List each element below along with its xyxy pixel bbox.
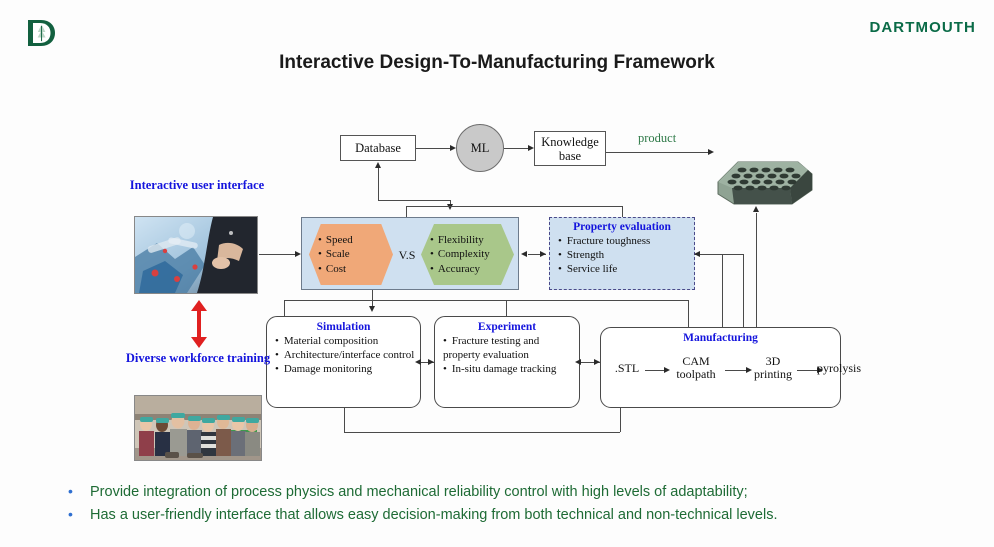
ml-node[interactable]: ML [456, 124, 504, 172]
manufacturing-step-stl: .STL [607, 362, 647, 375]
connector-sim-down [344, 408, 345, 432]
connector-feedback-to-db-v [378, 168, 379, 201]
simulation-title: Simulation [271, 321, 416, 333]
connector-cam-3d [725, 370, 747, 371]
manufacturing-step-cam: CAM toolpath [667, 355, 725, 380]
arrow-man-to-product [753, 206, 759, 212]
connector-lower-bus [284, 300, 688, 301]
arrow-ui-to-panel [295, 251, 301, 257]
arrow-panel-to-prop [540, 251, 546, 257]
database-node[interactable]: Database [340, 135, 416, 161]
design-tradeoff-panel[interactable]: Speed Scale Cost V.S Flexibility Complex… [301, 217, 519, 290]
arrow-feedback-to-db [375, 162, 381, 168]
property-evaluation-item: Fracture toughness [558, 234, 690, 248]
property-evaluation-item: Service life [558, 262, 690, 276]
connector-sim-to-stl-h [344, 432, 620, 433]
hexagon-constraints[interactable]: Speed Scale Cost [309, 224, 393, 285]
connector-db-to-ml [416, 148, 450, 149]
experiment-box[interactable]: Experiment Fracture testing and property… [434, 316, 580, 408]
bullet-marker-icon: • [68, 506, 90, 523]
connector-man-to-prop-v [722, 254, 723, 327]
experiment-item: Fracture testing and property evaluation [443, 334, 575, 362]
connector-bus-to-exp [506, 300, 507, 316]
connector-kb-to-product [606, 152, 710, 153]
manufacturing-step-3dprinting: 3D printing [747, 355, 799, 380]
property-evaluation-title: Property evaluation [554, 221, 690, 233]
robotic-arm-touchscreen-photo [134, 216, 258, 294]
hex-right-item: Flexibility [430, 233, 514, 247]
experiment-item: In-situ damage tracking [443, 362, 575, 376]
simulation-item: Damage monitoring [275, 362, 416, 376]
arrow-prop-to-panel [521, 251, 527, 257]
dartmouth-d-pine-logo-icon [24, 18, 58, 48]
arrow-panel-down [369, 306, 375, 312]
summary-bullet-item: • Has a user-friendly interface that all… [68, 506, 968, 524]
summary-bullet-text: Provide integration of process physics a… [90, 483, 748, 501]
summary-bullet-item: • Provide integration of process physics… [68, 483, 968, 501]
manufacturing-step-pyrolysis: pyrolysis [817, 362, 871, 375]
3d-lattice-block-icon [712, 148, 818, 210]
connector-ml-to-kb [504, 148, 528, 149]
property-evaluation-box[interactable]: Property evaluation Fracture toughness S… [549, 217, 695, 290]
connector-bus-down-right [622, 206, 623, 217]
connector-prop-right-v [743, 254, 744, 327]
simulation-box[interactable]: Simulation Material composition Architec… [266, 316, 421, 408]
connector-feedback-to-db-h [378, 200, 450, 201]
hex-left-item: Speed [318, 233, 393, 247]
red-double-arrow-icon [190, 300, 208, 348]
summary-bullets: • Provide integration of process physics… [68, 483, 968, 529]
interactive-ui-caption: Interactive user interface [124, 178, 270, 193]
hex-left-item: Cost [318, 262, 393, 276]
manufacturing-box[interactable]: Manufacturing .STL CAM toolpath 3D print… [600, 327, 841, 408]
hex-right-item: Complexity [430, 247, 514, 261]
hexagon-objectives[interactable]: Flexibility Complexity Accuracy [421, 224, 514, 285]
connector-bus-to-sim [284, 300, 285, 316]
connector-bus-to-man [688, 300, 689, 327]
slide-canvas: DARTMOUTH Interactive Design-To-Manufact… [0, 0, 994, 547]
arrow-man-to-exp [575, 359, 581, 365]
student-group-lab-photo [134, 395, 262, 461]
product-label: product [638, 131, 676, 146]
diverse-workforce-caption: Diverse workforce training [118, 351, 278, 366]
connector-bus-down-left [406, 206, 407, 217]
connector-stl-cam [645, 370, 665, 371]
summary-bullet-text: Has a user-friendly interface that allow… [90, 506, 777, 524]
bullet-marker-icon: • [68, 483, 90, 500]
connector-man-to-prop-h [700, 254, 722, 255]
knowledge-base-node[interactable]: Knowledge base [534, 131, 606, 166]
arrow-exp-to-sim [415, 359, 421, 365]
simulation-item: Material composition [275, 334, 416, 348]
brand-label: DARTMOUTH [869, 19, 976, 36]
simulation-item: Architecture/interface control [275, 348, 416, 362]
hex-right-item: Accuracy [430, 262, 514, 276]
arrow-joint-down [447, 204, 453, 210]
hex-left-item: Scale [318, 247, 393, 261]
page-title: Interactive Design-To-Manufacturing Fram… [0, 52, 994, 74]
experiment-title: Experiment [439, 321, 575, 333]
connector-3d-pyro [797, 370, 818, 371]
connector-top-bus [406, 206, 623, 207]
arrow-man-to-prop [694, 251, 700, 257]
vs-label: V.S [393, 248, 421, 263]
connector-man-to-product [756, 213, 757, 327]
manufacturing-title: Manufacturing [605, 332, 836, 344]
property-evaluation-item: Strength [558, 248, 690, 262]
connector-ui-to-panel [259, 254, 295, 255]
